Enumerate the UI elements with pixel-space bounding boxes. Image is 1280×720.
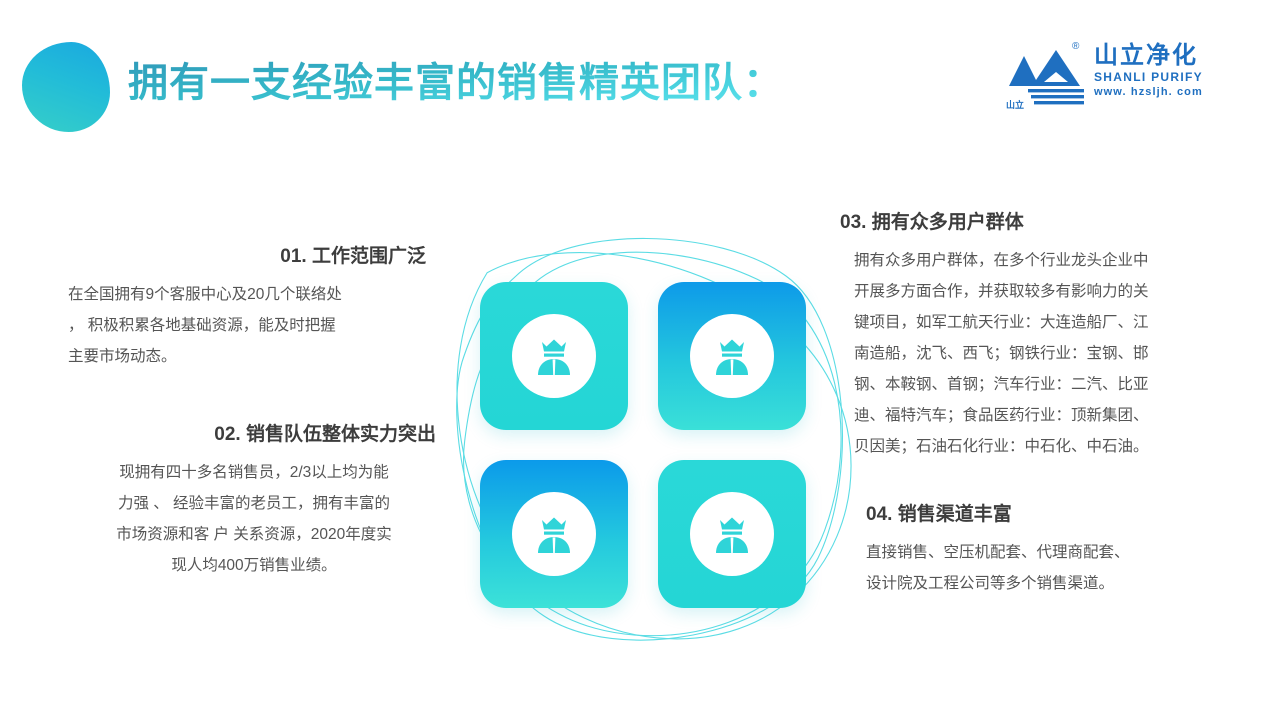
logo-text-group: 山立净化 SHANLI PURIFY www. hzsljh. com bbox=[1094, 42, 1226, 100]
center-graphic bbox=[420, 180, 880, 680]
crowned-person-icon bbox=[709, 334, 755, 378]
content-block-04: 04. 销售渠道丰富 直接销售、空压机配套、代理商配套、 设计院及工程公司等多个… bbox=[840, 502, 1212, 599]
block-01-line: ， 积极积累各地基础资源，能及时把握 bbox=[68, 310, 440, 341]
block-02-line: 力强 、 经验丰富的老员工，拥有丰富的 bbox=[68, 488, 440, 519]
icon-disc bbox=[512, 314, 596, 398]
icon-disc bbox=[512, 492, 596, 576]
block-04-line: 设计院及工程公司等多个销售渠道。 bbox=[866, 568, 1212, 599]
logo-company-en: SHANLI PURIFY bbox=[1094, 69, 1226, 85]
block-03-line: 开展多方面合作，并获取较多有影响力的关 bbox=[854, 276, 1212, 307]
icon-disc bbox=[690, 492, 774, 576]
page-title: 拥有一支经验丰富的销售精英团队： bbox=[128, 57, 784, 109]
block-03-line: 键项目，如军工航天行业：大连造船厂、江 bbox=[854, 307, 1212, 338]
block-03-line: 贝因美；石油石化行业：中石化、中石油。 bbox=[854, 431, 1212, 462]
crowned-person-icon bbox=[531, 334, 577, 378]
registered-trademark-icon: ® bbox=[1072, 41, 1079, 52]
block-02-title: 02. 销售队伍整体实力突出 bbox=[68, 422, 440, 448]
icon-card-03[interactable] bbox=[480, 460, 628, 608]
block-03-line: 拥有众多用户群体，在多个行业龙头企业中 bbox=[854, 245, 1212, 276]
block-02-body: 现拥有四十多名销售员，2/3以上均为能 力强 、 经验丰富的老员工，拥有丰富的 … bbox=[68, 457, 440, 581]
content-block-01: 01. 工作范围广泛 在全国拥有9个客服中心及20几个联络处 ， 积极积累各地基… bbox=[68, 244, 440, 372]
block-01-line: 在全国拥有9个客服中心及20几个联络处 bbox=[68, 279, 440, 310]
block-04-body: 直接销售、空压机配套、代理商配套、 设计院及工程公司等多个销售渠道。 bbox=[840, 537, 1212, 599]
block-04-line: 直接销售、空压机配套、代理商配套、 bbox=[866, 537, 1212, 568]
content-block-02: 02. 销售队伍整体实力突出 现拥有四十多名销售员，2/3以上均为能 力强 、 … bbox=[68, 422, 440, 581]
block-01-title: 01. 工作范围广泛 bbox=[68, 244, 440, 270]
decorative-blob-shape bbox=[22, 42, 110, 132]
block-03-title: 03. 拥有众多用户群体 bbox=[840, 210, 1212, 236]
block-03-body: 拥有众多用户群体，在多个行业龙头企业中 开展多方面合作，并获取较多有影响力的关 … bbox=[840, 245, 1212, 462]
icon-card-01[interactable] bbox=[480, 282, 628, 430]
company-logo: ® 山立 山立净化 SHANLI PURIFY www. hzsljh. com bbox=[1006, 40, 1224, 112]
page-header: 拥有一支经验丰富的销售精英团队： ® 山立 山立净化 SHANLI PURIFY… bbox=[0, 0, 1280, 150]
logo-mark-subtext: 山立 bbox=[1006, 98, 1024, 111]
crowned-person-icon bbox=[531, 512, 577, 556]
block-02-line: 市场资源和客 户 关系资源，2020年度实 bbox=[68, 519, 440, 550]
block-04-title: 04. 销售渠道丰富 bbox=[840, 502, 1212, 528]
block-01-body: 在全国拥有9个客服中心及20几个联络处 ， 积极积累各地基础资源，能及时把握 主… bbox=[68, 279, 440, 372]
icon-card-04[interactable] bbox=[658, 460, 806, 608]
icon-card-grid bbox=[480, 282, 806, 604]
logo-website: www. hzsljh. com bbox=[1094, 85, 1226, 100]
icon-card-02[interactable] bbox=[658, 282, 806, 430]
content-block-03: 03. 拥有众多用户群体 拥有众多用户群体，在多个行业龙头企业中 开展多方面合作… bbox=[840, 210, 1212, 462]
crowned-person-icon bbox=[709, 512, 755, 556]
block-03-line: 钢、本鞍钢、首钢；汽车行业：二汽、比亚 bbox=[854, 369, 1212, 400]
block-02-line: 现人均400万销售业绩。 bbox=[68, 550, 440, 581]
block-03-line: 迪、福特汽车；食品医药行业：顶新集团、 bbox=[854, 400, 1212, 431]
logo-company-cn: 山立净化 bbox=[1094, 42, 1226, 69]
block-03-line: 南造船，沈飞、西飞；钢铁行业：宝钢、邯 bbox=[854, 338, 1212, 369]
icon-disc bbox=[690, 314, 774, 398]
block-01-line: 主要市场动态。 bbox=[68, 341, 440, 372]
block-02-line: 现拥有四十多名销售员，2/3以上均为能 bbox=[68, 457, 440, 488]
